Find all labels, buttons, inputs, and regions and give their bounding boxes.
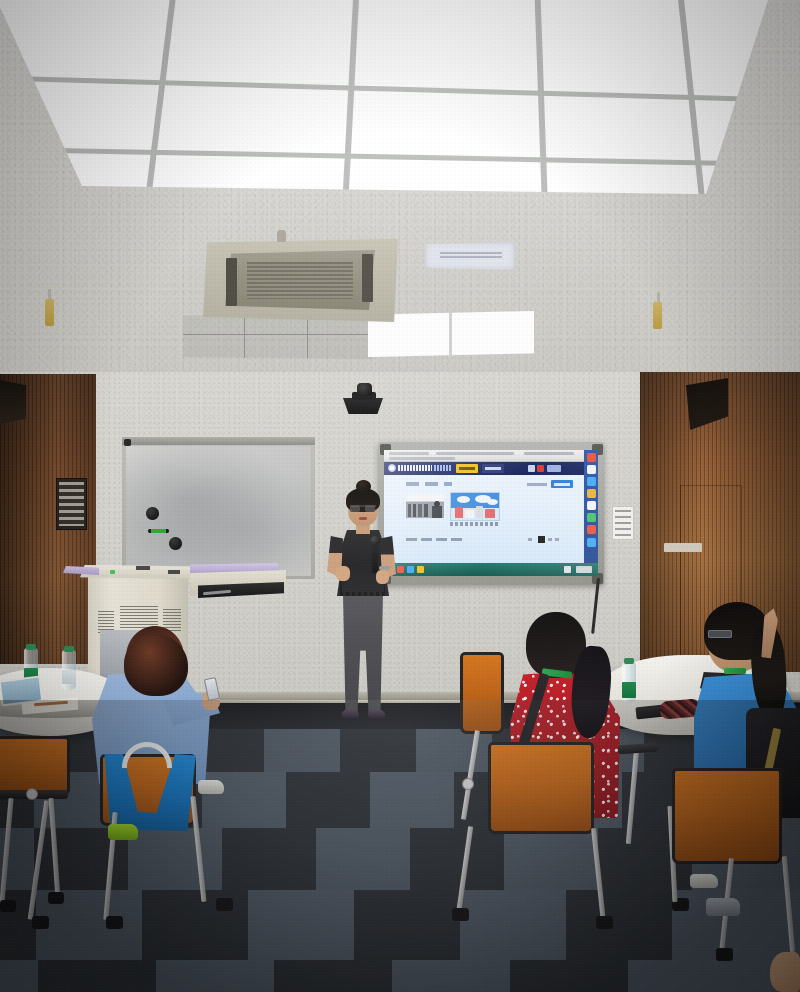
search-submit-label <box>554 483 570 486</box>
whiteboard-magnet <box>146 507 159 520</box>
presenter-hand-right <box>376 570 389 584</box>
illustration-building <box>485 509 495 518</box>
pagination-dot[interactable] <box>555 538 559 541</box>
pagination-dot[interactable] <box>548 538 552 541</box>
taskbar-icon[interactable] <box>587 513 596 522</box>
header-menu-icon[interactable] <box>547 465 561 472</box>
sprinkler-head <box>277 230 286 242</box>
attendee-left-hair <box>124 634 188 696</box>
campus-building-silhouette <box>408 504 430 517</box>
podium-label-plate <box>168 570 180 574</box>
green-sneaker <box>108 824 138 840</box>
chair-caster <box>26 788 38 800</box>
handheld-microphone[interactable] <box>372 540 378 574</box>
wall-mounted-video-camera <box>357 383 372 395</box>
attendee-right-glasses <box>708 630 732 638</box>
illustration-building <box>476 506 483 518</box>
header-navy-button-label <box>485 467 501 470</box>
illustration-building <box>455 507 463 518</box>
university-site-logo[interactable] <box>388 464 396 472</box>
ceiling-speaker-left <box>0 380 26 424</box>
chair-foot <box>48 892 64 904</box>
chair-foot <box>106 916 123 929</box>
whiteboard-top-rail <box>122 437 315 445</box>
room-door-sign <box>664 543 702 552</box>
presenter-mouth <box>359 517 367 520</box>
presenter-trousers <box>340 583 386 713</box>
ceiling-notice-text <box>440 252 502 260</box>
os-clock[interactable] <box>576 566 592 573</box>
chair-foot <box>452 908 469 921</box>
presenter-wristwatch <box>379 566 390 570</box>
microphone-head <box>370 536 380 545</box>
whiteboard-marker[interactable] <box>148 529 169 533</box>
ac-vent-left <box>226 258 237 306</box>
podium-power-led <box>110 570 115 574</box>
pendant-sprinkler-right <box>653 302 662 329</box>
browser-bookmarks-bar[interactable] <box>389 457 455 460</box>
taskbar-icon[interactable] <box>587 538 596 547</box>
camera-mount-bracket <box>343 398 383 414</box>
header-yellow-button-label <box>459 467 475 470</box>
chair-foot <box>596 916 613 929</box>
stacking-chair-back[interactable] <box>460 652 504 734</box>
illustration-cloud <box>457 496 470 503</box>
browser-toolbar-icons[interactable] <box>524 452 574 455</box>
pagination-dot[interactable] <box>528 538 532 541</box>
search-field-label <box>527 483 547 486</box>
taskbar-icon[interactable] <box>587 477 596 486</box>
illustration-building <box>465 510 474 518</box>
gray-sneaker <box>706 898 740 916</box>
presenter-glasses-lens-right <box>365 505 375 512</box>
tote-bag-handle <box>122 742 172 768</box>
chair-foot <box>0 900 16 912</box>
content-tab-links[interactable] <box>406 482 452 486</box>
light-panel-divider <box>449 311 452 357</box>
presenter-hair-bun <box>356 480 371 493</box>
bottle-label-clear <box>62 670 76 684</box>
browser-tab-strip[interactable] <box>389 452 429 455</box>
pagination-current-page[interactable] <box>538 536 545 543</box>
chair-foot <box>216 898 233 911</box>
os-taskbar-icon[interactable] <box>417 566 424 573</box>
presenter-shoe-right <box>368 710 385 718</box>
browser-address-bar[interactable] <box>436 452 514 455</box>
illustration-caption <box>450 522 500 526</box>
wall-notice-text <box>615 510 631 536</box>
white-sneaker <box>690 874 718 888</box>
bottle-cap <box>64 646 74 652</box>
podium-label-plate <box>136 566 150 570</box>
chair-caster <box>462 778 474 790</box>
presenter-hand-left <box>336 566 350 581</box>
stacking-chair-back[interactable] <box>672 768 782 864</box>
stacking-chair-back[interactable] <box>488 742 594 834</box>
projection-screen-display[interactable] <box>384 450 598 576</box>
chair-foot <box>32 916 49 929</box>
footer-links[interactable] <box>406 538 466 541</box>
site-subtitle-text <box>434 465 452 471</box>
os-system-tray-icon[interactable] <box>564 566 571 573</box>
ac-grille <box>247 262 353 299</box>
taskbar-icon[interactable] <box>587 453 596 462</box>
header-flag-icon[interactable] <box>537 465 544 472</box>
os-taskbar-icon[interactable] <box>407 566 414 573</box>
whiteboard-rail-knob <box>124 439 131 446</box>
whiteboard-magnet <box>169 537 182 550</box>
attendee-right-lanyard <box>724 668 746 674</box>
taskbar-icon[interactable] <box>587 489 596 498</box>
presenter <box>318 478 408 728</box>
header-share-icon[interactable] <box>528 465 535 472</box>
bottle-cap <box>26 644 36 650</box>
presenter-glasses-lens-left <box>350 505 360 512</box>
pendant-sprinkler-left <box>45 299 54 326</box>
taskbar-icon[interactable] <box>587 525 596 534</box>
taskbar-icon[interactable] <box>587 501 596 510</box>
white-sneaker <box>198 780 224 794</box>
ac-vent-right <box>362 254 373 302</box>
site-name-text <box>398 465 432 471</box>
illustration-cloud <box>487 499 498 505</box>
blue-illustration-graphic[interactable] <box>450 492 500 521</box>
classroom-photo-scene <box>0 0 800 992</box>
stacking-chair-back[interactable] <box>0 736 70 796</box>
wall-control-panel-face <box>59 482 84 526</box>
attendee-hand-corner <box>770 952 800 992</box>
skylight-mullion-grid <box>0 0 770 194</box>
taskbar-icon[interactable] <box>587 465 596 474</box>
presenter-shoe-left <box>342 710 359 718</box>
chair-foot <box>716 948 733 961</box>
campus-person-figure <box>432 500 442 518</box>
